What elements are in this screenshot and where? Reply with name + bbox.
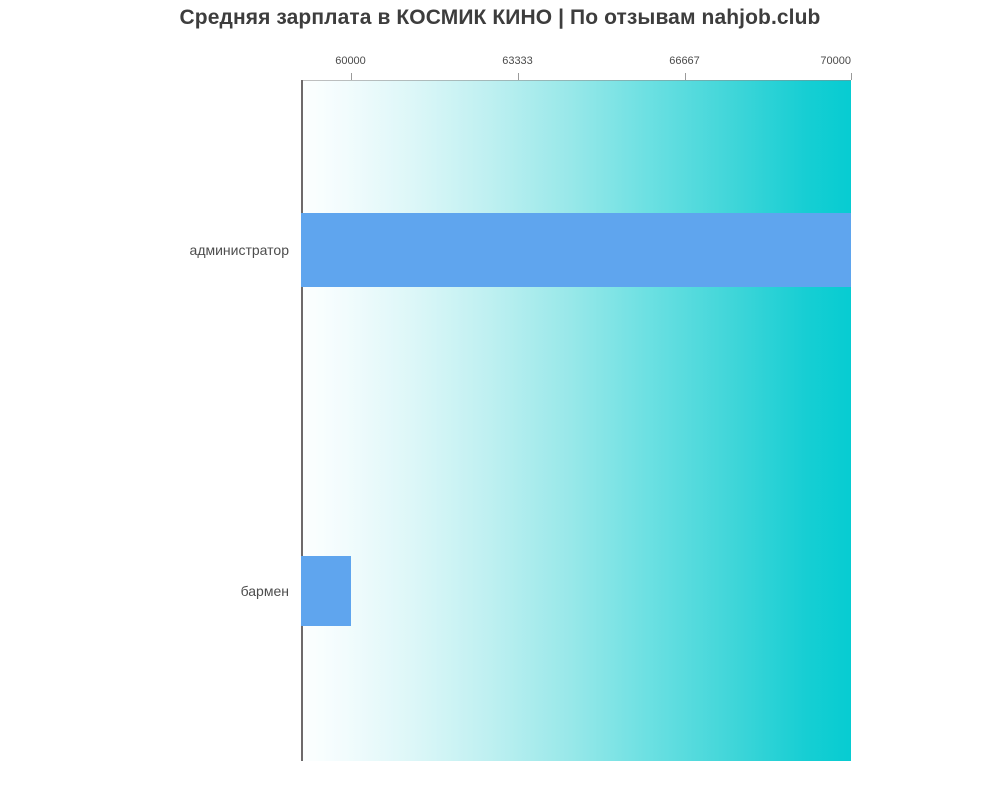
chart-figure: Средняя зарплата в КОСМИК КИНО | По отзы… xyxy=(0,0,1000,800)
bar-administrator[interactable] xyxy=(301,213,851,287)
x-tick-label: 60000 xyxy=(335,55,366,67)
bar-barmen[interactable] xyxy=(301,556,351,626)
x-tick-label: 63333 xyxy=(502,55,533,67)
x-tick-label: 66667 xyxy=(669,55,700,67)
x-tick-mark xyxy=(351,73,352,80)
y-axis-label-barmen: бармен xyxy=(0,583,289,599)
plot-background-gradient xyxy=(301,80,851,761)
x-tick-label: 70000 xyxy=(820,55,851,67)
x-axis-line xyxy=(301,80,851,81)
y-axis-label-administrator: администратор xyxy=(0,242,289,258)
x-tick-mark xyxy=(518,73,519,80)
plot-area: 60000 63333 66667 70000 xyxy=(301,80,851,761)
x-tick-mark xyxy=(685,73,686,80)
x-tick-mark xyxy=(851,73,852,80)
page-title: Средняя зарплата в КОСМИК КИНО | По отзы… xyxy=(0,0,1000,36)
y-axis-line xyxy=(301,80,303,761)
